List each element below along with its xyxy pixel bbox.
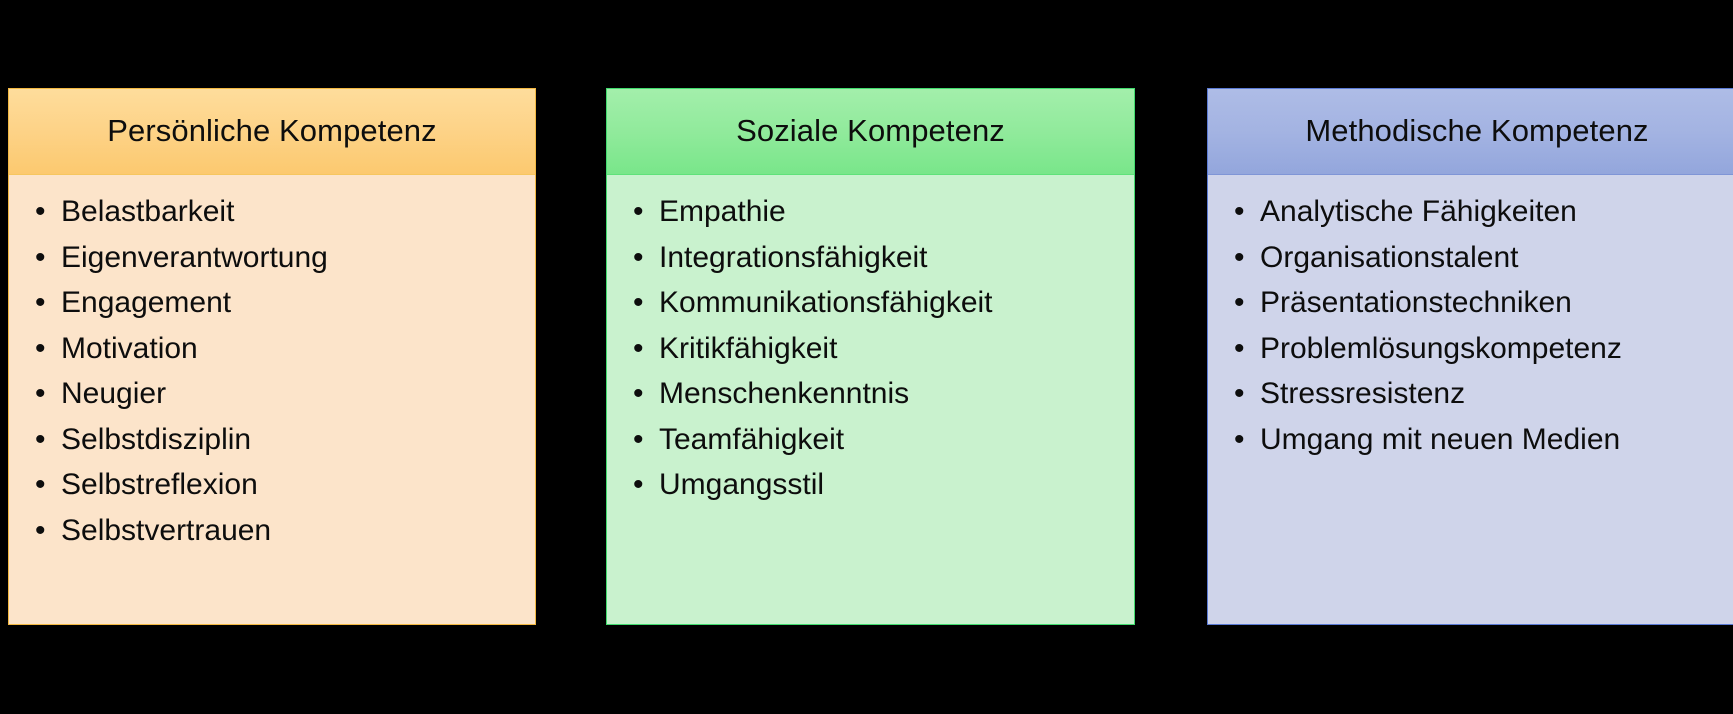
list-item: •Organisationstalent [1230,235,1733,281]
list-item-label: Analytische Fähigkeiten [1260,195,1577,228]
list-item-label: Menschenkenntnis [659,377,909,410]
card-body-social: •Empathie •Integrationsfähigkeit •Kommun… [607,175,1134,624]
list-item-label: Kritikfähigkeit [659,332,837,365]
card-soziale-kompetenz: Soziale Kompetenz •Empathie •Integration… [606,88,1135,625]
list-item: •Integrationsfähigkeit [629,235,1124,281]
list-item: •Umgang mit neuen Medien [1230,417,1733,463]
list-item-label: Engagement [61,286,231,319]
card-methodische-kompetenz: Methodische Kompetenz •Analytische Fähig… [1207,88,1733,625]
list-item: •Stressresistenz [1230,371,1733,417]
list-item: •Umgangsstil [629,462,1124,508]
list-item-label: Belastbarkeit [61,195,234,228]
bullet-icon: • [633,417,644,463]
list-item: •Analytische Fähigkeiten [1230,189,1733,235]
bullet-icon: • [35,371,46,417]
list-item: •Selbstdisziplin [31,417,525,463]
bullet-icon: • [35,462,46,508]
list-item: •Teamfähigkeit [629,417,1124,463]
bullet-icon: • [633,189,644,235]
list-item: •Kritikfähigkeit [629,326,1124,372]
list-item-label: Problemlösungskompetenz [1260,332,1622,365]
list-item-label: Umgang mit neuen Medien [1260,423,1620,456]
card-body-method: •Analytische Fähigkeiten •Organisationst… [1208,175,1733,624]
bullet-icon: • [1234,326,1245,372]
list-item-label: Eigenverantwortung [61,241,328,274]
card-header-method: Methodische Kompetenz [1208,89,1733,175]
card-header-personal: Persönliche Kompetenz [9,89,535,175]
list-item: •Belastbarkeit [31,189,525,235]
bullet-icon: • [633,326,644,372]
bullet-icon: • [1234,235,1245,281]
list-item-label: Motivation [61,332,198,365]
list-item-label: Umgangsstil [659,468,824,501]
bullet-icon: • [1234,371,1245,417]
bullet-icon: • [35,508,46,554]
list-item-label: Organisationstalent [1260,241,1519,274]
list-item: •Kommunikationsfähigkeit [629,280,1124,326]
list-item: •Motivation [31,326,525,372]
card-title-social: Soziale Kompetenz [736,114,1005,148]
bullet-icon: • [633,462,644,508]
list-item-label: Teamfähigkeit [659,423,844,456]
list-item-label: Präsentationstechniken [1260,286,1572,319]
bullet-icon: • [35,235,46,281]
list-item-label: Selbstvertrauen [61,514,271,547]
list-item-label: Neugier [61,377,166,410]
list-item-label: Kommunikationsfähigkeit [659,286,993,319]
card-personal-kompetenz: Persönliche Kompetenz •Belastbarkeit •Ei… [8,88,536,625]
list-item-label: Empathie [659,195,786,228]
bullet-icon: • [1234,280,1245,326]
list-item-label: Stressresistenz [1260,377,1465,410]
bullet-icon: • [1234,417,1245,463]
competency-list-personal: •Belastbarkeit •Eigenverantwortung •Enga… [31,189,525,553]
bullet-icon: • [633,280,644,326]
bullet-icon: • [35,189,46,235]
card-title-method: Methodische Kompetenz [1305,114,1648,148]
list-item: •Präsentationstechniken [1230,280,1733,326]
bullet-icon: • [633,371,644,417]
card-title-personal: Persönliche Kompetenz [107,114,437,148]
bullet-icon: • [633,235,644,281]
list-item: •Problemlösungskompetenz [1230,326,1733,372]
card-body-personal: •Belastbarkeit •Eigenverantwortung •Enga… [9,175,535,624]
list-item-label: Integrationsfähigkeit [659,241,928,274]
list-item: •Engagement [31,280,525,326]
list-item: •Selbstreflexion [31,462,525,508]
list-item: •Eigenverantwortung [31,235,525,281]
list-item-label: Selbstdisziplin [61,423,251,456]
bullet-icon: • [35,326,46,372]
list-item: •Empathie [629,189,1124,235]
competency-list-method: •Analytische Fähigkeiten •Organisationst… [1230,189,1733,462]
list-item: •Selbstvertrauen [31,508,525,554]
competency-list-social: •Empathie •Integrationsfähigkeit •Kommun… [629,189,1124,508]
list-item: •Menschenkenntnis [629,371,1124,417]
list-item-label: Selbstreflexion [61,468,258,501]
bullet-icon: • [1234,189,1245,235]
card-header-social: Soziale Kompetenz [607,89,1134,175]
bullet-icon: • [35,280,46,326]
bullet-icon: • [35,417,46,463]
competency-cards-board: Persönliche Kompetenz •Belastbarkeit •Ei… [0,0,1733,714]
list-item: •Neugier [31,371,525,417]
